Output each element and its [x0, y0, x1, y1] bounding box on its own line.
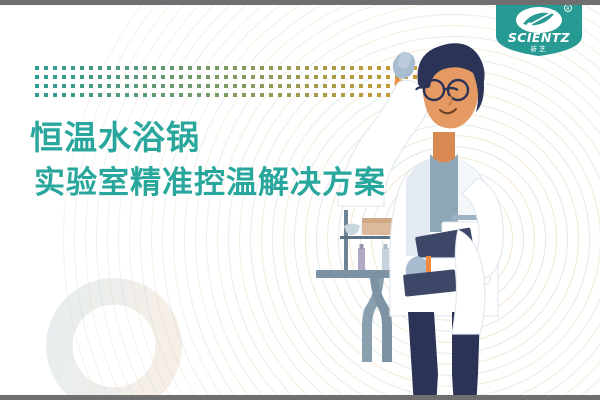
grid-dot [71, 66, 75, 70]
grid-dot [107, 66, 111, 70]
grid-dot [251, 93, 255, 97]
promo-banner: 恒温水浴锅 实验室精准控温解决方案 R SCIENTZ 新芝 [0, 0, 600, 400]
grid-dot [53, 66, 57, 70]
grid-dot [98, 93, 102, 97]
grid-dot [269, 84, 273, 88]
grid-dot [179, 66, 183, 70]
grid-dot [206, 84, 210, 88]
grid-dot [161, 66, 165, 70]
grid-dot [260, 93, 264, 97]
grid-dot [62, 84, 66, 88]
grid-dot [188, 66, 192, 70]
grid-dot [278, 75, 282, 79]
grid-dot [107, 75, 111, 79]
grid-dot [179, 75, 183, 79]
grid-dot [197, 93, 201, 97]
bottle-blue-cap [384, 244, 388, 249]
grid-dot [107, 84, 111, 88]
grid-dot [224, 93, 228, 97]
grid-dot [143, 93, 147, 97]
grid-dot [98, 84, 102, 88]
grid-dot [35, 84, 39, 88]
grid-dot [161, 84, 165, 88]
grid-dot [152, 66, 156, 70]
grid-dot [188, 75, 192, 79]
grid-dot [224, 75, 228, 79]
grid-dot [80, 66, 84, 70]
grid-dot [197, 66, 201, 70]
grid-dot [53, 75, 57, 79]
grid-dot [80, 84, 84, 88]
shelf-post-left [344, 210, 348, 272]
grid-dot [116, 84, 120, 88]
grid-dot [125, 84, 129, 88]
grid-dot [62, 66, 66, 70]
grid-dot [143, 66, 147, 70]
headline-block: 恒温水浴锅 实验室精准控温解决方案 [30, 120, 386, 200]
grid-dot [179, 84, 183, 88]
grid-dot [170, 84, 174, 88]
grid-dot [260, 75, 264, 79]
grid-dot [134, 84, 138, 88]
grid-dot [233, 93, 237, 97]
grid-dot [278, 93, 282, 97]
grid-dot [287, 66, 291, 70]
grid-dot [161, 75, 165, 79]
grid-dot [233, 66, 237, 70]
grid-dot [152, 93, 156, 97]
grid-dot [53, 93, 57, 97]
grid-dot [80, 93, 84, 97]
grid-dot [89, 75, 93, 79]
grid-dot [242, 93, 246, 97]
grid-dot [170, 75, 174, 79]
grid-dot [215, 93, 219, 97]
grid-dot [134, 75, 138, 79]
grid-dot [206, 75, 210, 79]
grid-dot [233, 84, 237, 88]
grid-dot [44, 66, 48, 70]
grid-dot [62, 93, 66, 97]
grid-dot [89, 93, 93, 97]
grid-dot [161, 93, 165, 97]
bottle-blue [382, 248, 389, 270]
coat-pocket [452, 215, 480, 220]
grid-dot [251, 75, 255, 79]
grid-dot [125, 93, 129, 97]
grid-dot [71, 93, 75, 97]
grid-dot [98, 66, 102, 70]
bottle-purple [358, 248, 365, 270]
grid-dot [215, 66, 219, 70]
grid-dot [188, 93, 192, 97]
grid-dot [134, 93, 138, 97]
grid-dot [188, 84, 192, 88]
scientist-head-group [416, 43, 485, 128]
grid-dot [89, 84, 93, 88]
grid-dot [197, 84, 201, 88]
grid-dot [62, 75, 66, 79]
grid-dot [152, 84, 156, 88]
bottom-chrome-bar [0, 395, 600, 400]
grid-dot [125, 75, 129, 79]
grid-dot [53, 84, 57, 88]
grid-dot [269, 93, 273, 97]
neck [433, 132, 455, 163]
grid-dot [71, 75, 75, 79]
grid-dot [215, 75, 219, 79]
grid-dot [44, 84, 48, 88]
grid-dot [242, 75, 246, 79]
grid-dot [134, 66, 138, 70]
grid-dot [143, 75, 147, 79]
grid-dot [143, 84, 147, 88]
grid-dot [242, 66, 246, 70]
grid-dot [98, 75, 102, 79]
grid-dot [206, 93, 210, 97]
grid-dot [44, 75, 48, 79]
grid-dot [170, 93, 174, 97]
grid-dot [170, 66, 174, 70]
grid-dot [35, 75, 39, 79]
grid-dot [35, 66, 39, 70]
grid-dot [224, 84, 228, 88]
leg-left [408, 312, 438, 395]
logo-wordmark: SCIENTZ [508, 30, 571, 45]
scientist-illustration [300, 40, 600, 395]
grid-dot [269, 75, 273, 79]
inner-shirt [430, 154, 458, 232]
grid-dot [71, 84, 75, 88]
grid-dot [125, 66, 129, 70]
grid-dot [260, 84, 264, 88]
grid-dot [116, 75, 120, 79]
logo-registered-mark: R [566, 7, 570, 13]
page-subtitle: 实验室精准控温解决方案 [34, 167, 386, 200]
grid-dot [206, 66, 210, 70]
logo-sub-text: 新芝 [531, 44, 548, 53]
bottle-purple-cap [360, 244, 364, 249]
grid-dot [116, 93, 120, 97]
grid-dot [107, 93, 111, 97]
top-chrome-bar [0, 0, 600, 5]
grid-dot [242, 84, 246, 88]
grid-dot [269, 66, 273, 70]
grid-dot [215, 84, 219, 88]
grid-dot [233, 75, 237, 79]
page-title: 恒温水浴锅 [30, 120, 386, 156]
grid-dot [179, 93, 183, 97]
logo-dot [527, 22, 532, 27]
grid-dot [287, 75, 291, 79]
grid-dot [251, 66, 255, 70]
grid-dot [251, 84, 255, 88]
grid-dot [197, 75, 201, 79]
grid-dot [287, 93, 291, 97]
grid-dot [224, 66, 228, 70]
grid-dot [89, 66, 93, 70]
shelf-box-lid [362, 218, 396, 223]
grid-dot [278, 84, 282, 88]
grid-dot [35, 93, 39, 97]
grid-dot [152, 75, 156, 79]
grid-dot [278, 66, 282, 70]
grid-dot [80, 75, 84, 79]
grid-dot [44, 93, 48, 97]
grid-dot [287, 84, 291, 88]
grid-dot [116, 66, 120, 70]
scientz-logo[interactable]: R SCIENTZ 新芝 [496, 0, 582, 56]
grid-dot [260, 66, 264, 70]
